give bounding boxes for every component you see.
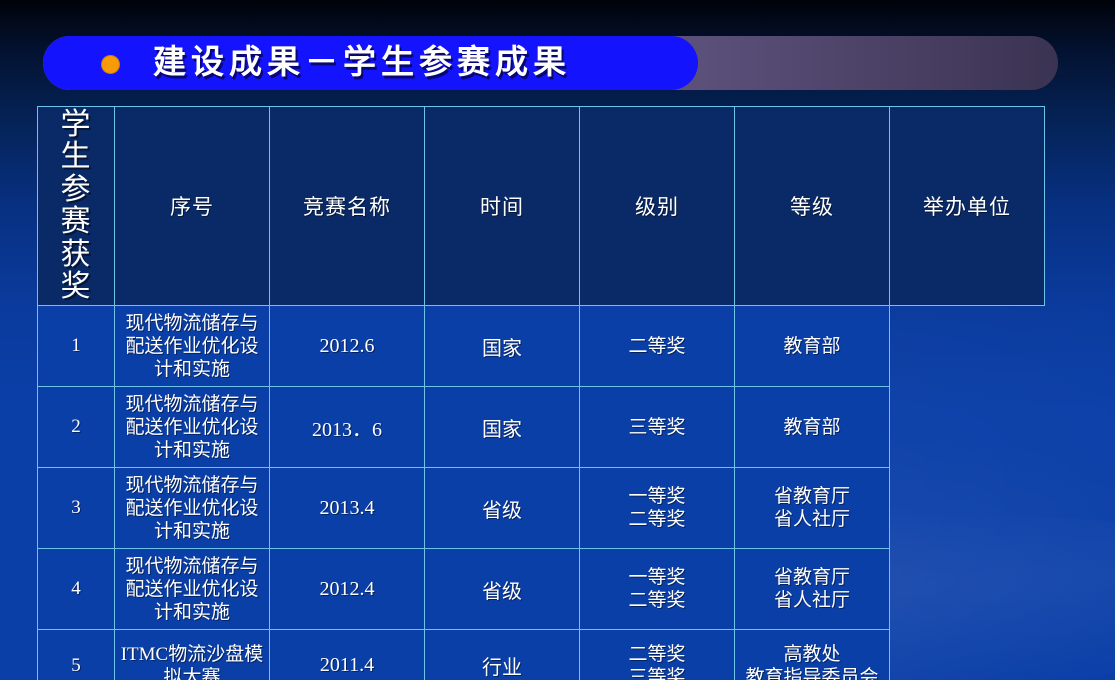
table-row: 5 ITMC物流沙盘模拟大赛 2011.4 行业 二等奖 三等奖 高教处 教育指… [38,630,1045,680]
cell-level: 省级 [425,468,580,549]
cell-org: 教育部 [735,306,890,387]
column-header-rank: 等级 [735,107,890,306]
page-title: 建设成果－学生参赛成果 [153,36,571,90]
cell-level: 省级 [425,549,580,630]
cell-name: 现代物流储存与配送作业优化设计和实施 [115,468,270,549]
table-row: 4 现代物流储存与配送作业优化设计和实施 2012.4 省级 一等奖 二等奖 省… [38,549,1045,630]
cell-time: 2012.4 [270,549,425,630]
cell-time: 2012.6 [270,306,425,387]
cell-no: 5 [38,630,115,680]
cell-name: 现代物流储存与配送作业优化设计和实施 [115,549,270,630]
cell-name: 现代物流储存与配送作业优化设计和实施 [115,306,270,387]
cell-org: 省教育厅 省人社厅 [735,549,890,630]
column-header-time: 时间 [425,107,580,306]
cell-org: 高教处 教育指导委员会 [735,630,890,680]
side-label-text: 学生参赛获奖 [41,109,111,303]
table-row: 2 现代物流储存与配送作业优化设计和实施 2013．6 国家 三等奖 教育部 [38,387,1045,468]
award-table-container: 学生参赛获奖 序号 竞赛名称 时间 级别 等级 举办单位 1 现代物流储存与配送… [37,106,1045,680]
column-header-no: 序号 [115,107,270,306]
table-row: 1 现代物流储存与配送作业优化设计和实施 2012.6 国家 二等奖 教育部 [38,306,1045,387]
cell-level: 行业 [425,630,580,680]
cell-rank: 二等奖 [580,306,735,387]
cell-name: ITMC物流沙盘模拟大赛 [115,630,270,680]
orange-dot-icon [101,55,120,74]
award-table: 学生参赛获奖 序号 竞赛名称 时间 级别 等级 举办单位 1 现代物流储存与配送… [37,106,1045,680]
table-row: 3 现代物流储存与配送作业优化设计和实施 2013.4 省级 一等奖 二等奖 省… [38,468,1045,549]
cell-time: 2011.4 [270,630,425,680]
cell-time: 2013.4 [270,468,425,549]
cell-name: 现代物流储存与配送作业优化设计和实施 [115,387,270,468]
column-header-level: 级别 [580,107,735,306]
slide-canvas: 非会员水印 建设成果－学生参赛成果 学生参赛获奖 序号 竞赛名称 时间 级别 等… [0,0,1115,680]
cell-rank: 三等奖 [580,387,735,468]
cell-no: 3 [38,468,115,549]
cell-level: 国家 [425,306,580,387]
cell-time: 2013．6 [270,387,425,468]
cell-no: 2 [38,387,115,468]
cell-org: 教育部 [735,387,890,468]
slide-title-banner: 建设成果－学生参赛成果 [43,36,1058,90]
cell-rank: 一等奖 二等奖 [580,549,735,630]
table-body: 1 现代物流储存与配送作业优化设计和实施 2012.6 国家 二等奖 教育部 2… [38,306,1045,680]
cell-no: 4 [38,549,115,630]
cell-no: 1 [38,306,115,387]
cell-rank: 一等奖 二等奖 [580,468,735,549]
cell-level: 国家 [425,387,580,468]
column-header-name: 竞赛名称 [270,107,425,306]
table-header: 学生参赛获奖 序号 竞赛名称 时间 级别 等级 举办单位 [38,107,1045,306]
column-header-org: 举办单位 [890,107,1045,306]
cell-org: 省教育厅 省人社厅 [735,468,890,549]
cell-rank: 二等奖 三等奖 [580,630,735,680]
side-label-cell: 学生参赛获奖 [38,107,115,306]
table-header-row: 学生参赛获奖 序号 竞赛名称 时间 级别 等级 举办单位 [38,107,1045,306]
